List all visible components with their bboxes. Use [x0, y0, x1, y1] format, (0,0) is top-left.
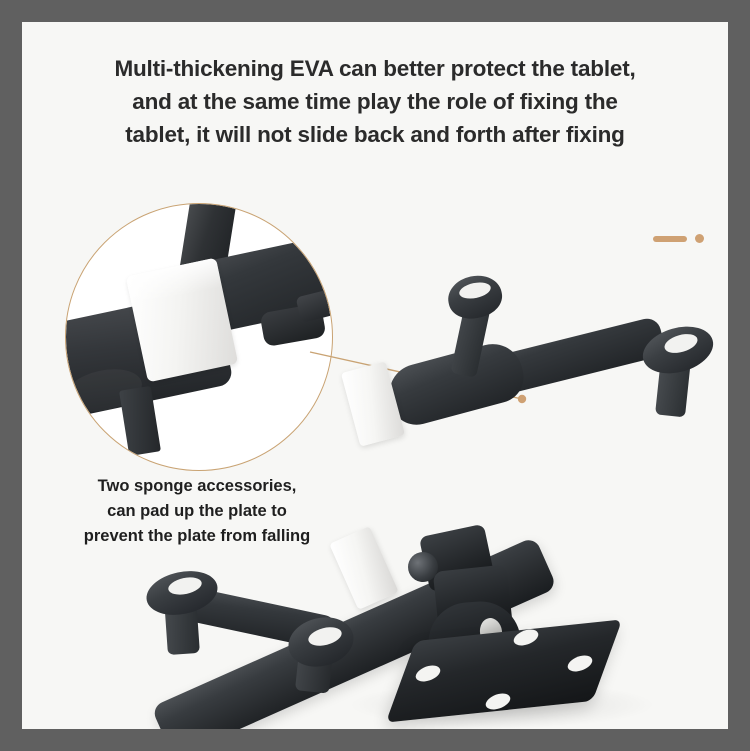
caption-line-3: prevent the plate from falling: [32, 524, 362, 549]
headline: Multi-thickening EVA can better protect …: [22, 52, 728, 151]
headline-line-1: Multi-thickening EVA can better protect …: [22, 52, 728, 85]
decorative-marker: [653, 232, 723, 246]
caption-line-2: can pad up the plate to: [32, 499, 362, 524]
headline-line-3: tablet, it will not slide back and forth…: [22, 118, 728, 151]
headline-line-2: and at the same time play the role of fi…: [22, 85, 728, 118]
poster-canvas: Multi-thickening EVA can better protect …: [22, 22, 728, 729]
caption: Two sponge accessories, can pad up the p…: [32, 474, 362, 549]
poster-frame: Multi-thickening EVA can better protect …: [0, 0, 750, 751]
decorative-dash-icon: [653, 236, 687, 242]
decorative-dot-icon: [695, 234, 704, 243]
caption-line-1: Two sponge accessories,: [32, 474, 362, 499]
